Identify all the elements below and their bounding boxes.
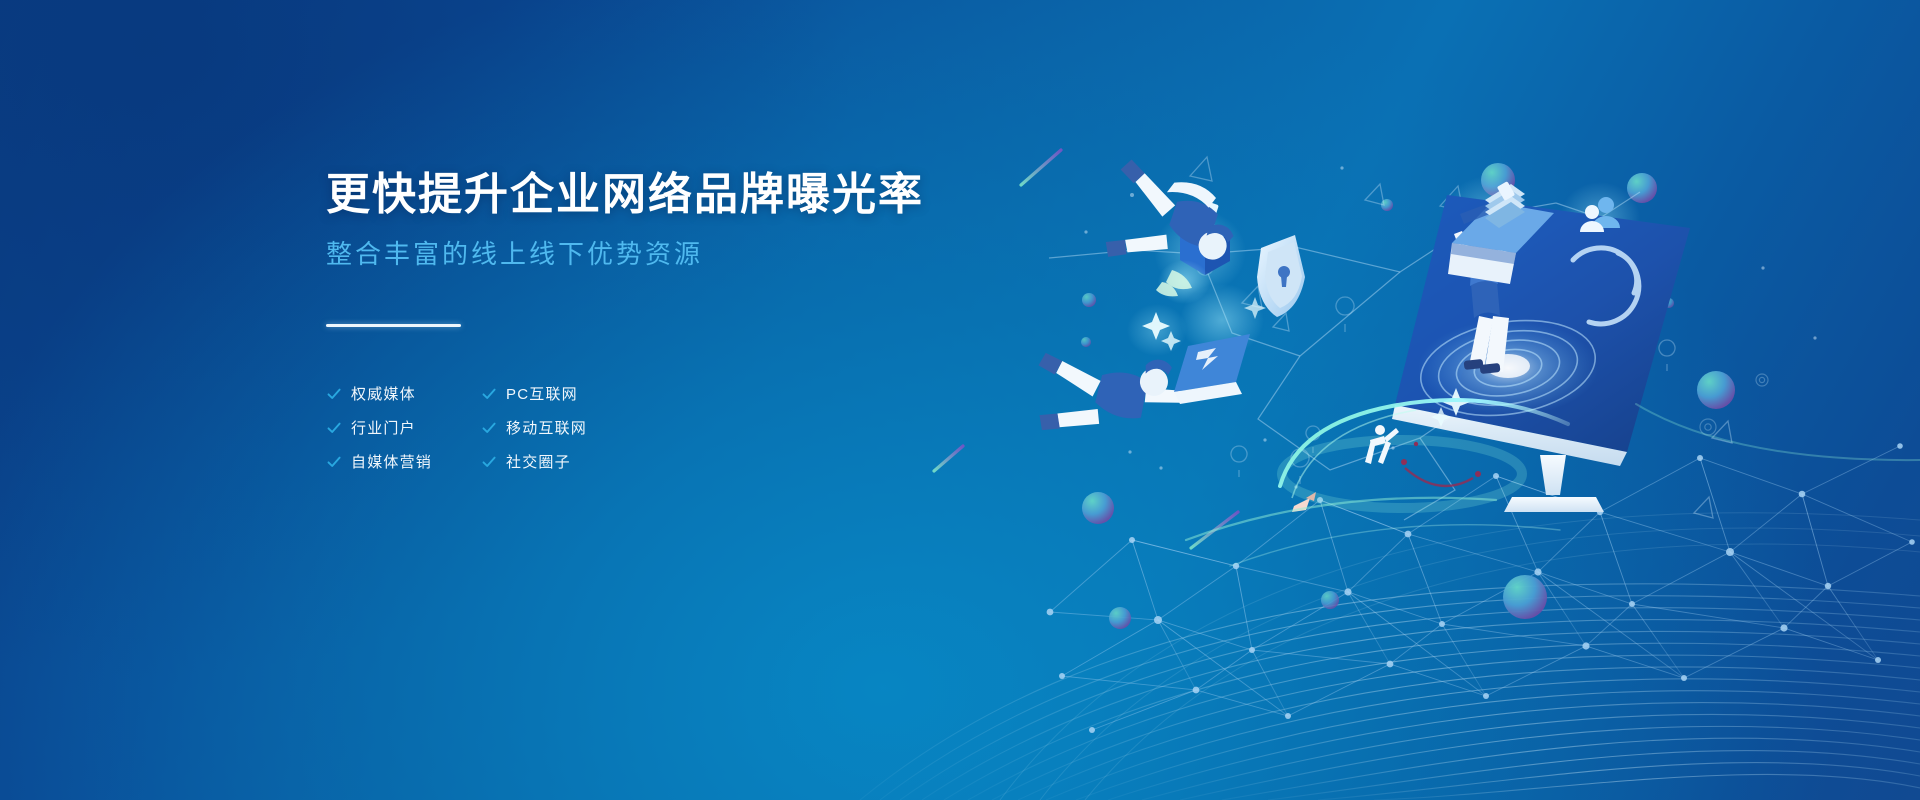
network-mesh	[1050, 446, 1912, 730]
check-icon	[481, 454, 497, 470]
energy-streaks	[1186, 404, 1920, 566]
particle-dots	[1084, 166, 1816, 488]
check-icon	[326, 420, 342, 436]
monitor-stand	[1504, 455, 1604, 512]
accent-dots	[1401, 442, 1481, 477]
check-icon	[481, 420, 497, 436]
laptop-overhead	[1448, 202, 1554, 284]
accent-arc	[1405, 468, 1473, 486]
person-on-ring	[1365, 425, 1399, 464]
cards-icon	[1485, 181, 1525, 228]
comet-streaks	[934, 150, 1238, 548]
astronaut-upper	[1082, 157, 1243, 304]
network-nodes	[1047, 443, 1915, 733]
rocket-icon	[1292, 492, 1316, 512]
sparkle-cluster	[1142, 297, 1470, 427]
feature-item: 权威媒体	[326, 377, 481, 411]
arc-lines	[860, 584, 1920, 800]
orbit-ring	[1280, 400, 1568, 508]
check-icon	[326, 454, 342, 470]
check-icon	[481, 386, 497, 402]
person-on-screen	[1454, 230, 1512, 374]
gear-outlines	[1197, 245, 1768, 435]
check-icon	[326, 386, 342, 402]
triangle-outlines	[1190, 157, 1732, 518]
glow-halos	[1127, 176, 1640, 434]
astronaut-lower	[1023, 331, 1250, 460]
monitor-screen	[1392, 195, 1690, 466]
feature-item: 行业门户	[326, 411, 481, 445]
spiral-vortex	[1414, 309, 1602, 427]
user-group-icon	[1580, 197, 1620, 232]
arc-lines-upper	[1000, 513, 1920, 800]
feature-item: 移动互联网	[481, 411, 966, 445]
feature-label: 行业门户	[351, 417, 416, 438]
cube-icon	[1180, 202, 1230, 275]
pin-outlines	[1231, 297, 1675, 484]
feature-list: 权威媒体 PC互联网 行业门户 移动互联网	[326, 377, 966, 479]
divider	[326, 324, 461, 327]
page-subtitle: 整合丰富的线上线下优势资源	[326, 239, 966, 270]
hero-copy: 更快提升企业网络品牌曝光率 整合丰富的线上线下优势资源 权威媒体 PC互联网	[326, 170, 966, 479]
feature-label: 权威媒体	[351, 383, 416, 404]
feature-label: PC互联网	[506, 383, 578, 404]
feature-item: 社交圈子	[481, 445, 966, 479]
circle-arc-motif	[1573, 248, 1639, 324]
hero-banner: 更快提升企业网络品牌曝光率 整合丰富的线上线下优势资源 权威媒体 PC互联网	[0, 0, 1920, 800]
thruster-plume	[1156, 270, 1192, 296]
shield-lock-icon	[1257, 235, 1305, 317]
feature-item: 自媒体营销	[326, 445, 481, 479]
feature-label: 社交圈子	[506, 451, 571, 472]
gradient-spheres	[1081, 163, 1735, 629]
page-title: 更快提升企业网络品牌曝光率	[326, 170, 966, 221]
laptop	[1174, 334, 1250, 404]
feature-label: 自媒体营销	[351, 451, 432, 472]
icon-connection-lines	[1049, 192, 1640, 520]
feature-item: PC互联网	[481, 377, 966, 411]
feature-label: 移动互联网	[506, 417, 587, 438]
